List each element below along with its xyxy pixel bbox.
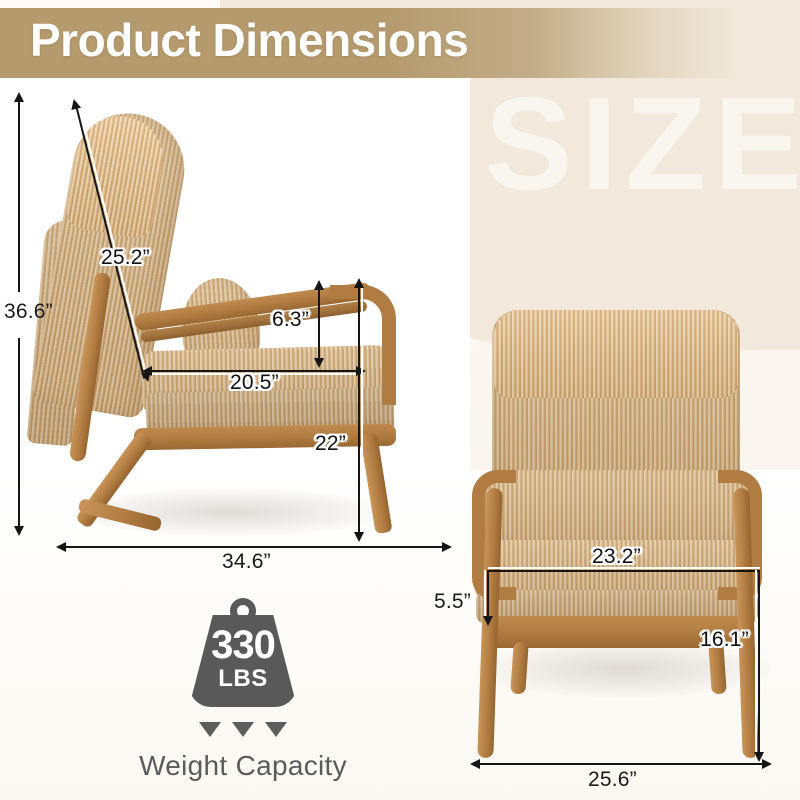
dim-label-overall-width: 25.6” [588, 768, 637, 792]
side-seat-frame [134, 424, 396, 451]
dim-label-seat-width: 23.2” [592, 545, 641, 569]
dim-line-seat-back-height-white [361, 286, 363, 534]
dim-line-overall-height-b [18, 338, 20, 528]
dim-label-arm-to-seat: 6.3” [272, 308, 309, 332]
side-arm-front-curve [330, 285, 396, 405]
dim-line-seat-height [758, 570, 760, 756]
dim-arrow-overall-height-top [14, 92, 24, 102]
dim-label-overall-height: 36.6” [4, 300, 53, 324]
weight-value: 330 [183, 625, 303, 665]
dim-line-cushion-thickness [487, 570, 489, 618]
dim-line-seat-width [488, 570, 760, 572]
dim-label-cushion-thickness: 5.5” [434, 590, 471, 614]
background-watermark: SIZE [485, 78, 800, 210]
weight-capacity-label: Weight Capacity [118, 750, 368, 782]
weight-unit: LBS [183, 667, 303, 691]
dim-line-overall-depth [64, 546, 446, 548]
dim-arrow-seat-back-bottom [354, 532, 364, 542]
dim-arrow-arm-to-seat-bottom [314, 358, 324, 368]
dim-label-seat-back-height: 22” [315, 432, 346, 456]
dim-arrow-overall-depth-left [56, 542, 66, 552]
dim-line-seat-height-white [755, 570, 757, 756]
dim-label-backrest-height: 25.2” [101, 246, 150, 270]
weight-capacity-badge: 330 LBS Weight Capacity [118, 598, 368, 782]
weight-arrow-1 [199, 722, 221, 737]
dim-arrow-overall-height-bottom [14, 526, 24, 536]
front-headrest-pad [494, 310, 738, 398]
dim-line-overall-height [18, 100, 20, 292]
dim-arrow-arm-to-seat-top [314, 280, 324, 290]
page-title: Product Dimensions [30, 13, 468, 67]
dim-arrow-overall-depth-right [442, 542, 452, 552]
dim-arrow-overall-width-right [762, 759, 772, 769]
dim-line-overall-width [478, 763, 766, 765]
dim-arrow-overall-width-left [470, 759, 480, 769]
weight-arrow-2 [232, 722, 254, 737]
dim-label-overall-depth: 34.6” [222, 550, 271, 574]
dim-arrow-seat-depth-left [142, 366, 152, 376]
dim-arrow-cushion-thickness-bottom [483, 616, 493, 626]
dim-line-cushion-thickness-white [484, 570, 486, 618]
dim-label-seat-depth: 20.5” [230, 371, 279, 395]
dim-label-seat-height: 16.1” [700, 628, 749, 652]
dim-line-seat-back-height [358, 286, 360, 534]
dim-line-arm-to-seat [318, 288, 320, 360]
weight-arrow-group [183, 722, 303, 740]
weight-arrow-3 [265, 722, 287, 737]
infographic-canvas: SIZE Product Dimensions [0, 0, 800, 800]
weight-icon: 330 LBS [183, 598, 303, 716]
dim-arrow-seat-back-top [354, 278, 364, 288]
